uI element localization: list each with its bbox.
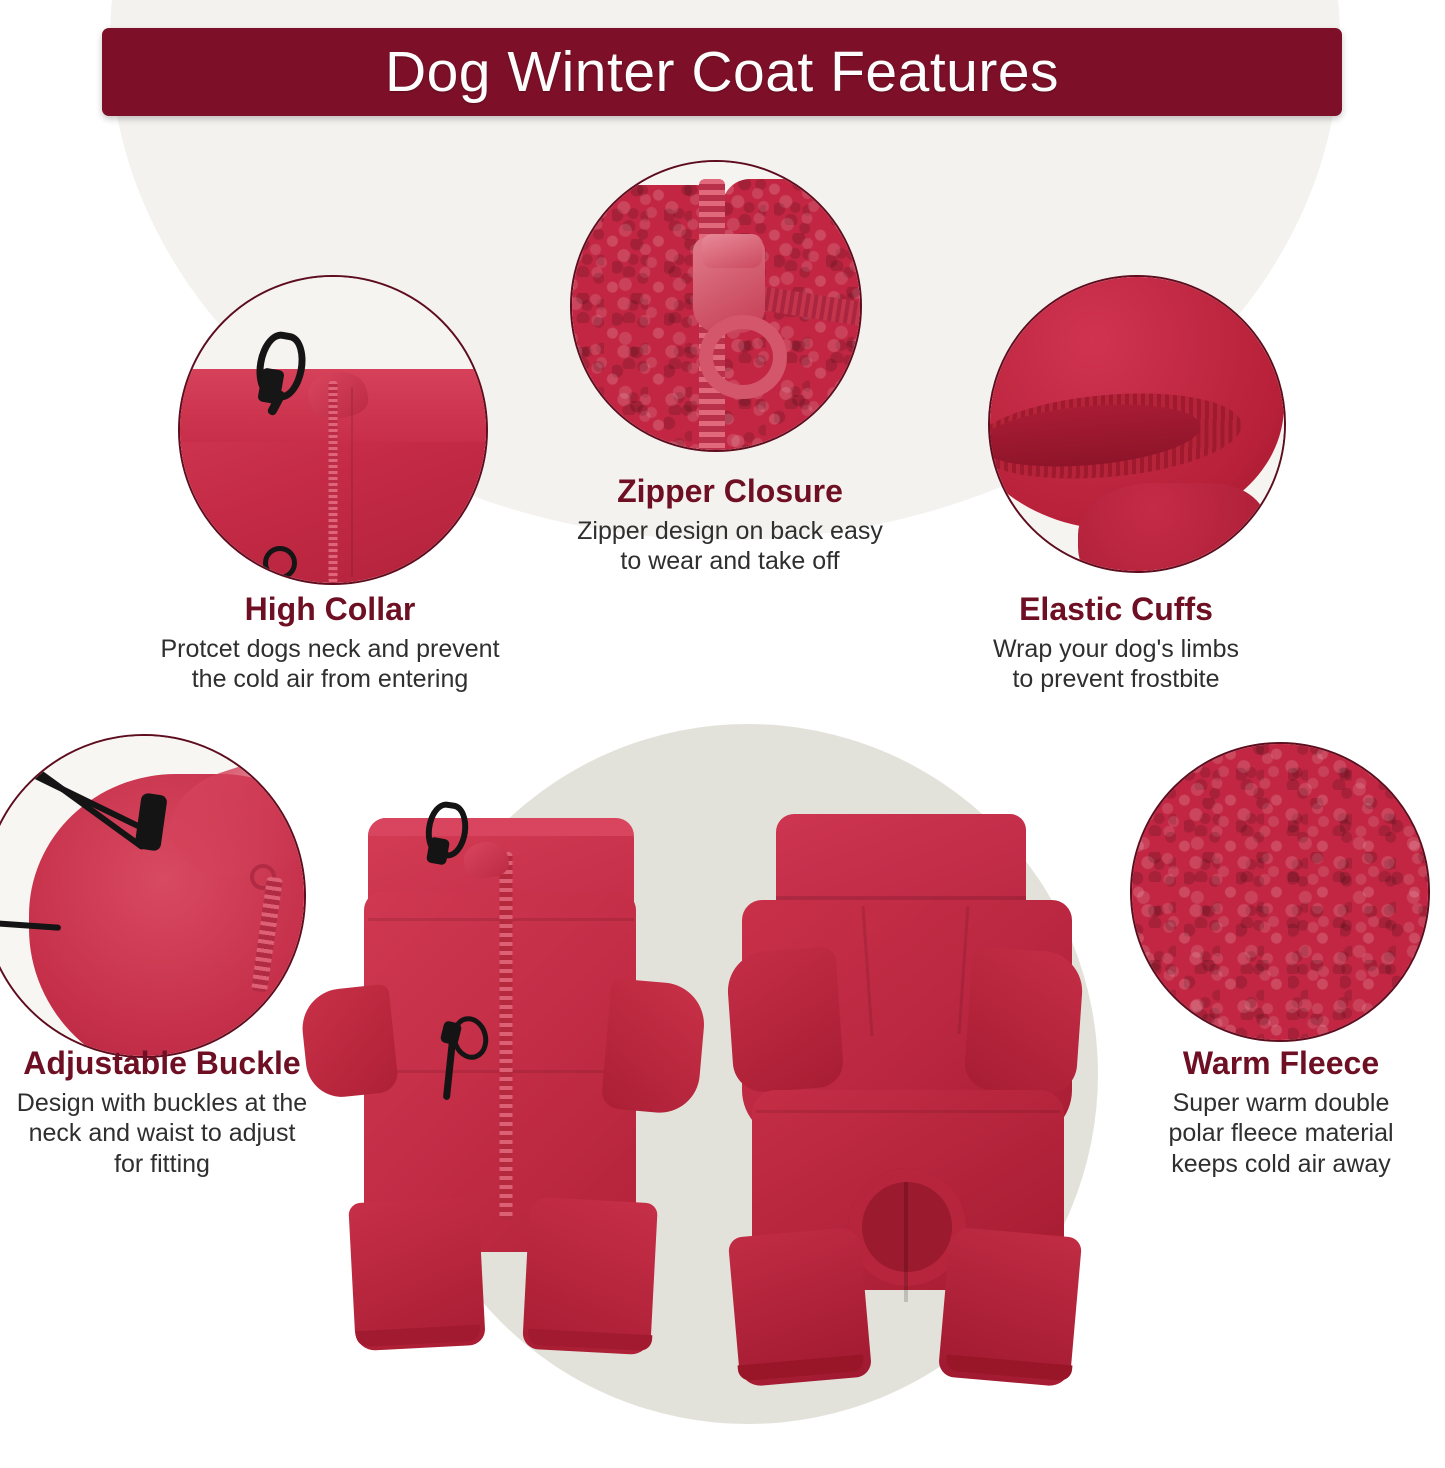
feature-caption-elastic-cuffs: Elastic Cuffs Wrap your dog's limbs to p…	[930, 592, 1302, 695]
feature-desc-line2-elastic-cuffs: to prevent frostbite	[930, 664, 1302, 695]
fleece-texture-fill	[1132, 744, 1428, 1040]
feature-image-elastic-cuffs	[988, 275, 1286, 573]
front-zipper	[500, 852, 513, 1220]
sleeve-lower-shape	[1078, 483, 1266, 573]
product-photo-back-view	[716, 800, 1116, 1460]
feature-desc-line3-warm-fleece: keeps cold air away	[1124, 1149, 1438, 1180]
feature-title-adjustable-buckle: Adjustable Buckle	[0, 1046, 324, 1082]
collar-top-edge	[368, 818, 634, 836]
feature-title-warm-fleece: Warm Fleece	[1124, 1046, 1438, 1082]
feature-caption-high-collar: High Collar Protcet dogs neck and preven…	[118, 592, 542, 695]
feature-desc-line1-elastic-cuffs: Wrap your dog's limbs	[930, 634, 1302, 665]
sleeve-right	[963, 946, 1085, 1095]
rear-split-seam	[904, 1182, 908, 1302]
collar-seam	[776, 896, 1026, 900]
feature-caption-adjustable-buckle: Adjustable Buckle Design with buckles at…	[0, 1046, 324, 1179]
zipper-track	[329, 381, 338, 583]
seam-line	[351, 387, 353, 577]
infographic-canvas: Dog Winter Coat Features High Collar Pro…	[0, 0, 1445, 1468]
zipper-slider-cap	[702, 234, 762, 268]
sleeve-left	[299, 984, 400, 1101]
feature-image-adjustable-buckle	[0, 734, 306, 1058]
feature-desc-line2-adjustable-buckle: neck and waist to adjust	[0, 1118, 324, 1149]
feature-caption-zipper-closure: Zipper Closure Zipper design on back eas…	[512, 474, 948, 577]
page-title: Dog Winter Coat Features	[385, 44, 1059, 101]
feature-image-warm-fleece	[1130, 742, 1430, 1042]
feature-image-zipper-closure	[570, 160, 862, 452]
feature-caption-warm-fleece: Warm Fleece Super warm double polar flee…	[1124, 1046, 1438, 1179]
feature-title-high-collar: High Collar	[118, 592, 542, 628]
feature-image-high-collar	[178, 275, 488, 585]
feature-desc-line1-zipper-closure: Zipper design on back easy	[512, 516, 948, 547]
feature-desc-line1-high-collar: Protcet dogs neck and prevent	[118, 634, 542, 665]
feature-desc-line2-warm-fleece: polar fleece material	[1124, 1118, 1438, 1149]
hip-seam	[756, 1110, 1060, 1113]
feature-title-elastic-cuffs: Elastic Cuffs	[930, 592, 1302, 628]
feature-title-zipper-closure: Zipper Closure	[512, 474, 948, 510]
feature-desc-line2-zipper-closure: to wear and take off	[512, 546, 948, 577]
product-photo-front-view	[306, 800, 706, 1460]
zipper-pull-ring	[699, 315, 787, 399]
feature-desc-line1-warm-fleece: Super warm double	[1124, 1088, 1438, 1119]
lower-drawstring-loop	[263, 546, 297, 580]
feature-desc-line2-high-collar: the cold air from entering	[118, 664, 542, 695]
title-banner: Dog Winter Coat Features	[102, 28, 1342, 116]
sleeve-right	[601, 978, 708, 1116]
feature-desc-line3-adjustable-buckle: for fitting	[0, 1149, 324, 1180]
sleeve-left	[725, 946, 844, 1093]
feature-desc-line1-adjustable-buckle: Design with buckles at the	[0, 1088, 324, 1119]
